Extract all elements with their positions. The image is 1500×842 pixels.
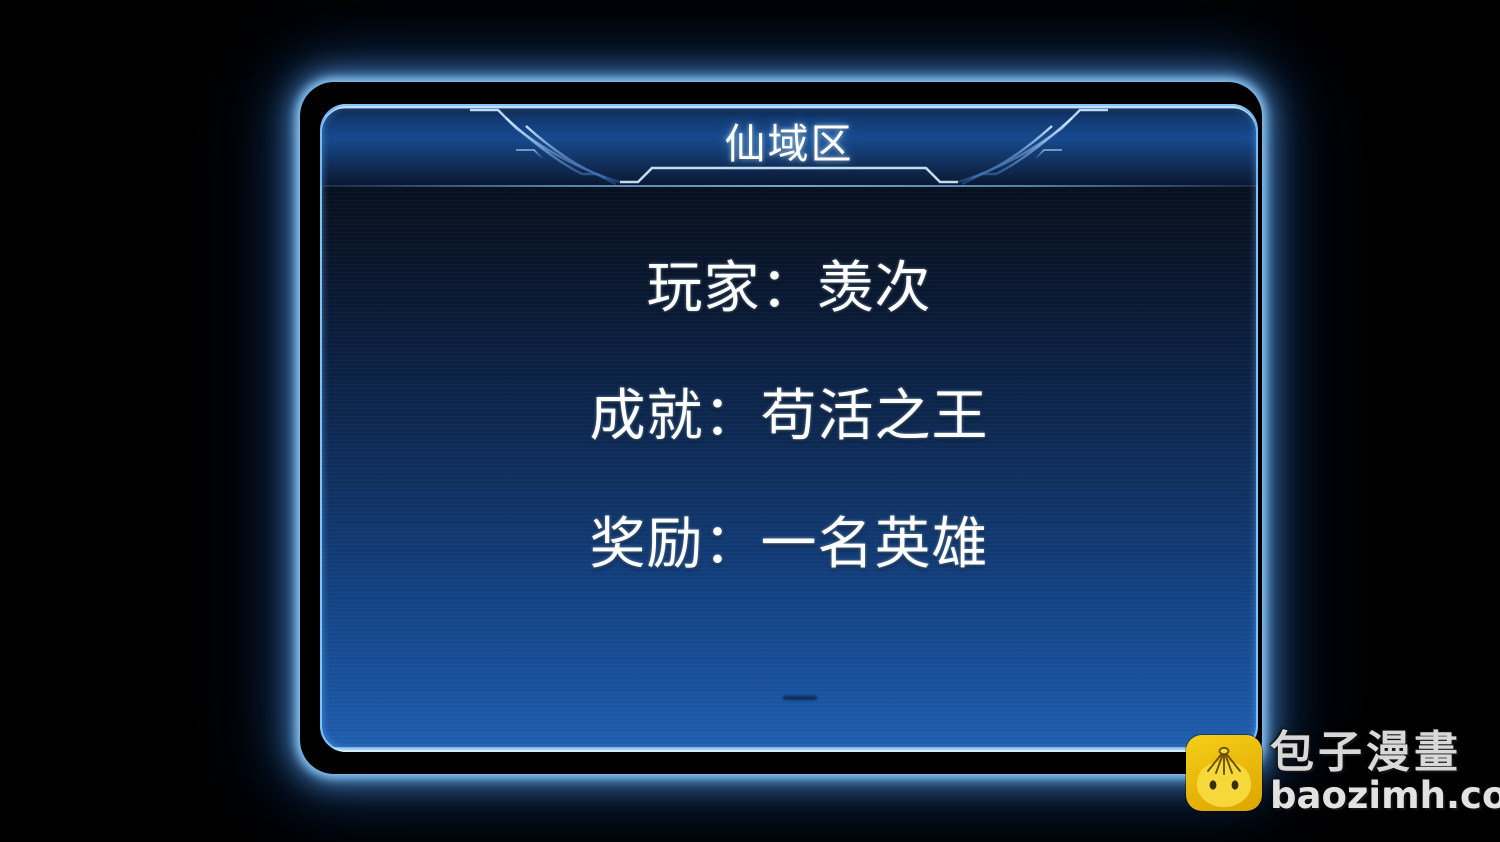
bun-glyph-icon	[1186, 735, 1262, 811]
reward-label: 奖励	[590, 512, 704, 577]
info-row-player: 玩家：羡次	[647, 254, 932, 324]
reward-value: 一名英雄	[761, 512, 989, 577]
info-panel: 仙域区 玩家：羡次 成就：苟活之王 奖励：一名英雄	[320, 104, 1258, 752]
watermark-brand-cn: 包子漫畫	[1270, 731, 1500, 775]
page-title: 仙域区	[320, 118, 1258, 170]
achievement-value: 苟活之王	[761, 384, 989, 449]
achievement-label: 成就	[590, 384, 704, 449]
baozi-bun-icon	[1186, 735, 1262, 811]
watermark-text: 包子漫畫 baozimh.com	[1270, 731, 1500, 814]
info-row-achievement: 成就：苟活之王	[590, 382, 989, 452]
watermark: 包子漫畫 baozimh.com	[1186, 731, 1500, 814]
player-colon: ：	[761, 256, 818, 321]
info-row-reward: 奖励：一名英雄	[590, 510, 989, 580]
panel-bottom-edge	[320, 747, 1258, 752]
panel-body: 玩家：羡次 成就：苟活之王 奖励：一名英雄	[320, 254, 1258, 580]
player-value: 羡次	[818, 256, 932, 321]
panel-header: 仙域区	[320, 104, 1258, 186]
reward-colon: ：	[704, 512, 761, 577]
header-separator	[320, 185, 1258, 187]
bottom-center-mark	[783, 696, 817, 700]
watermark-brand-url: baozimh.com	[1270, 777, 1500, 814]
screen: 仙域区 玩家：羡次 成就：苟活之王 奖励：一名英雄	[0, 0, 1500, 842]
achievement-colon: ：	[704, 384, 761, 449]
player-label: 玩家	[647, 256, 761, 321]
